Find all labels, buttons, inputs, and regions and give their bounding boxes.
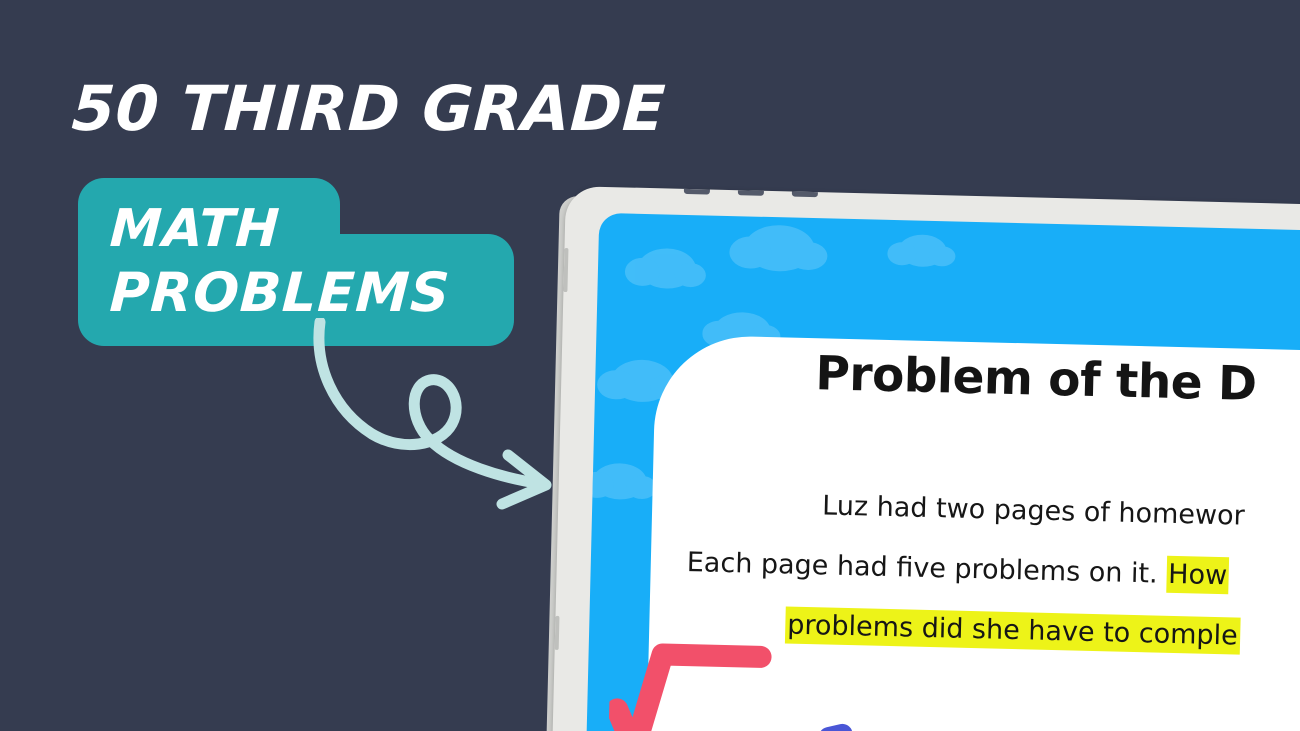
worksheet-text-highlighted: How <box>1166 556 1230 595</box>
tablet-side-button[interactable] <box>555 616 560 650</box>
tablet-frame: Problem of the D Luz had two pages of ho… <box>551 186 1300 731</box>
worksheet-text-highlighted: problems did she have to comple <box>785 606 1240 654</box>
tablet-side-button[interactable] <box>563 248 568 292</box>
square-root-radical-svg <box>608 631 781 731</box>
cloud-decoration-icon <box>744 224 815 272</box>
plus-sign-icon <box>784 714 917 731</box>
cloud-decoration-icon <box>638 248 697 289</box>
worksheet-title: Problem of the D <box>815 346 1257 412</box>
tablet-top-notch <box>684 189 710 195</box>
tablet-top-notch <box>792 192 818 198</box>
worksheet-text-plain: Each page had five problems on it. <box>686 547 1166 590</box>
promo-image-canvas: 50 THIRD GRADE MATH PROBLEMS <box>0 0 1300 731</box>
cloud-decoration-icon <box>898 234 947 267</box>
curly-arrow-svg <box>290 318 570 518</box>
plus-sign-svg <box>784 714 917 731</box>
page-title: 50 THIRD GRADE <box>70 78 667 140</box>
tablet-screen[interactable]: Problem of the D Luz had two pages of ho… <box>585 213 1300 731</box>
tablet-top-notch <box>738 190 764 196</box>
badge-label-math: MATH <box>109 203 282 255</box>
badge-label-problems: PROBLEMS <box>109 266 452 320</box>
tablet-device-icon: Problem of the D Luz had two pages of ho… <box>551 186 1300 731</box>
curly-arrow-icon <box>290 318 570 518</box>
square-root-radical-icon <box>608 631 781 731</box>
worksheet-text-plain: Luz had two pages of homewor <box>822 490 1245 531</box>
